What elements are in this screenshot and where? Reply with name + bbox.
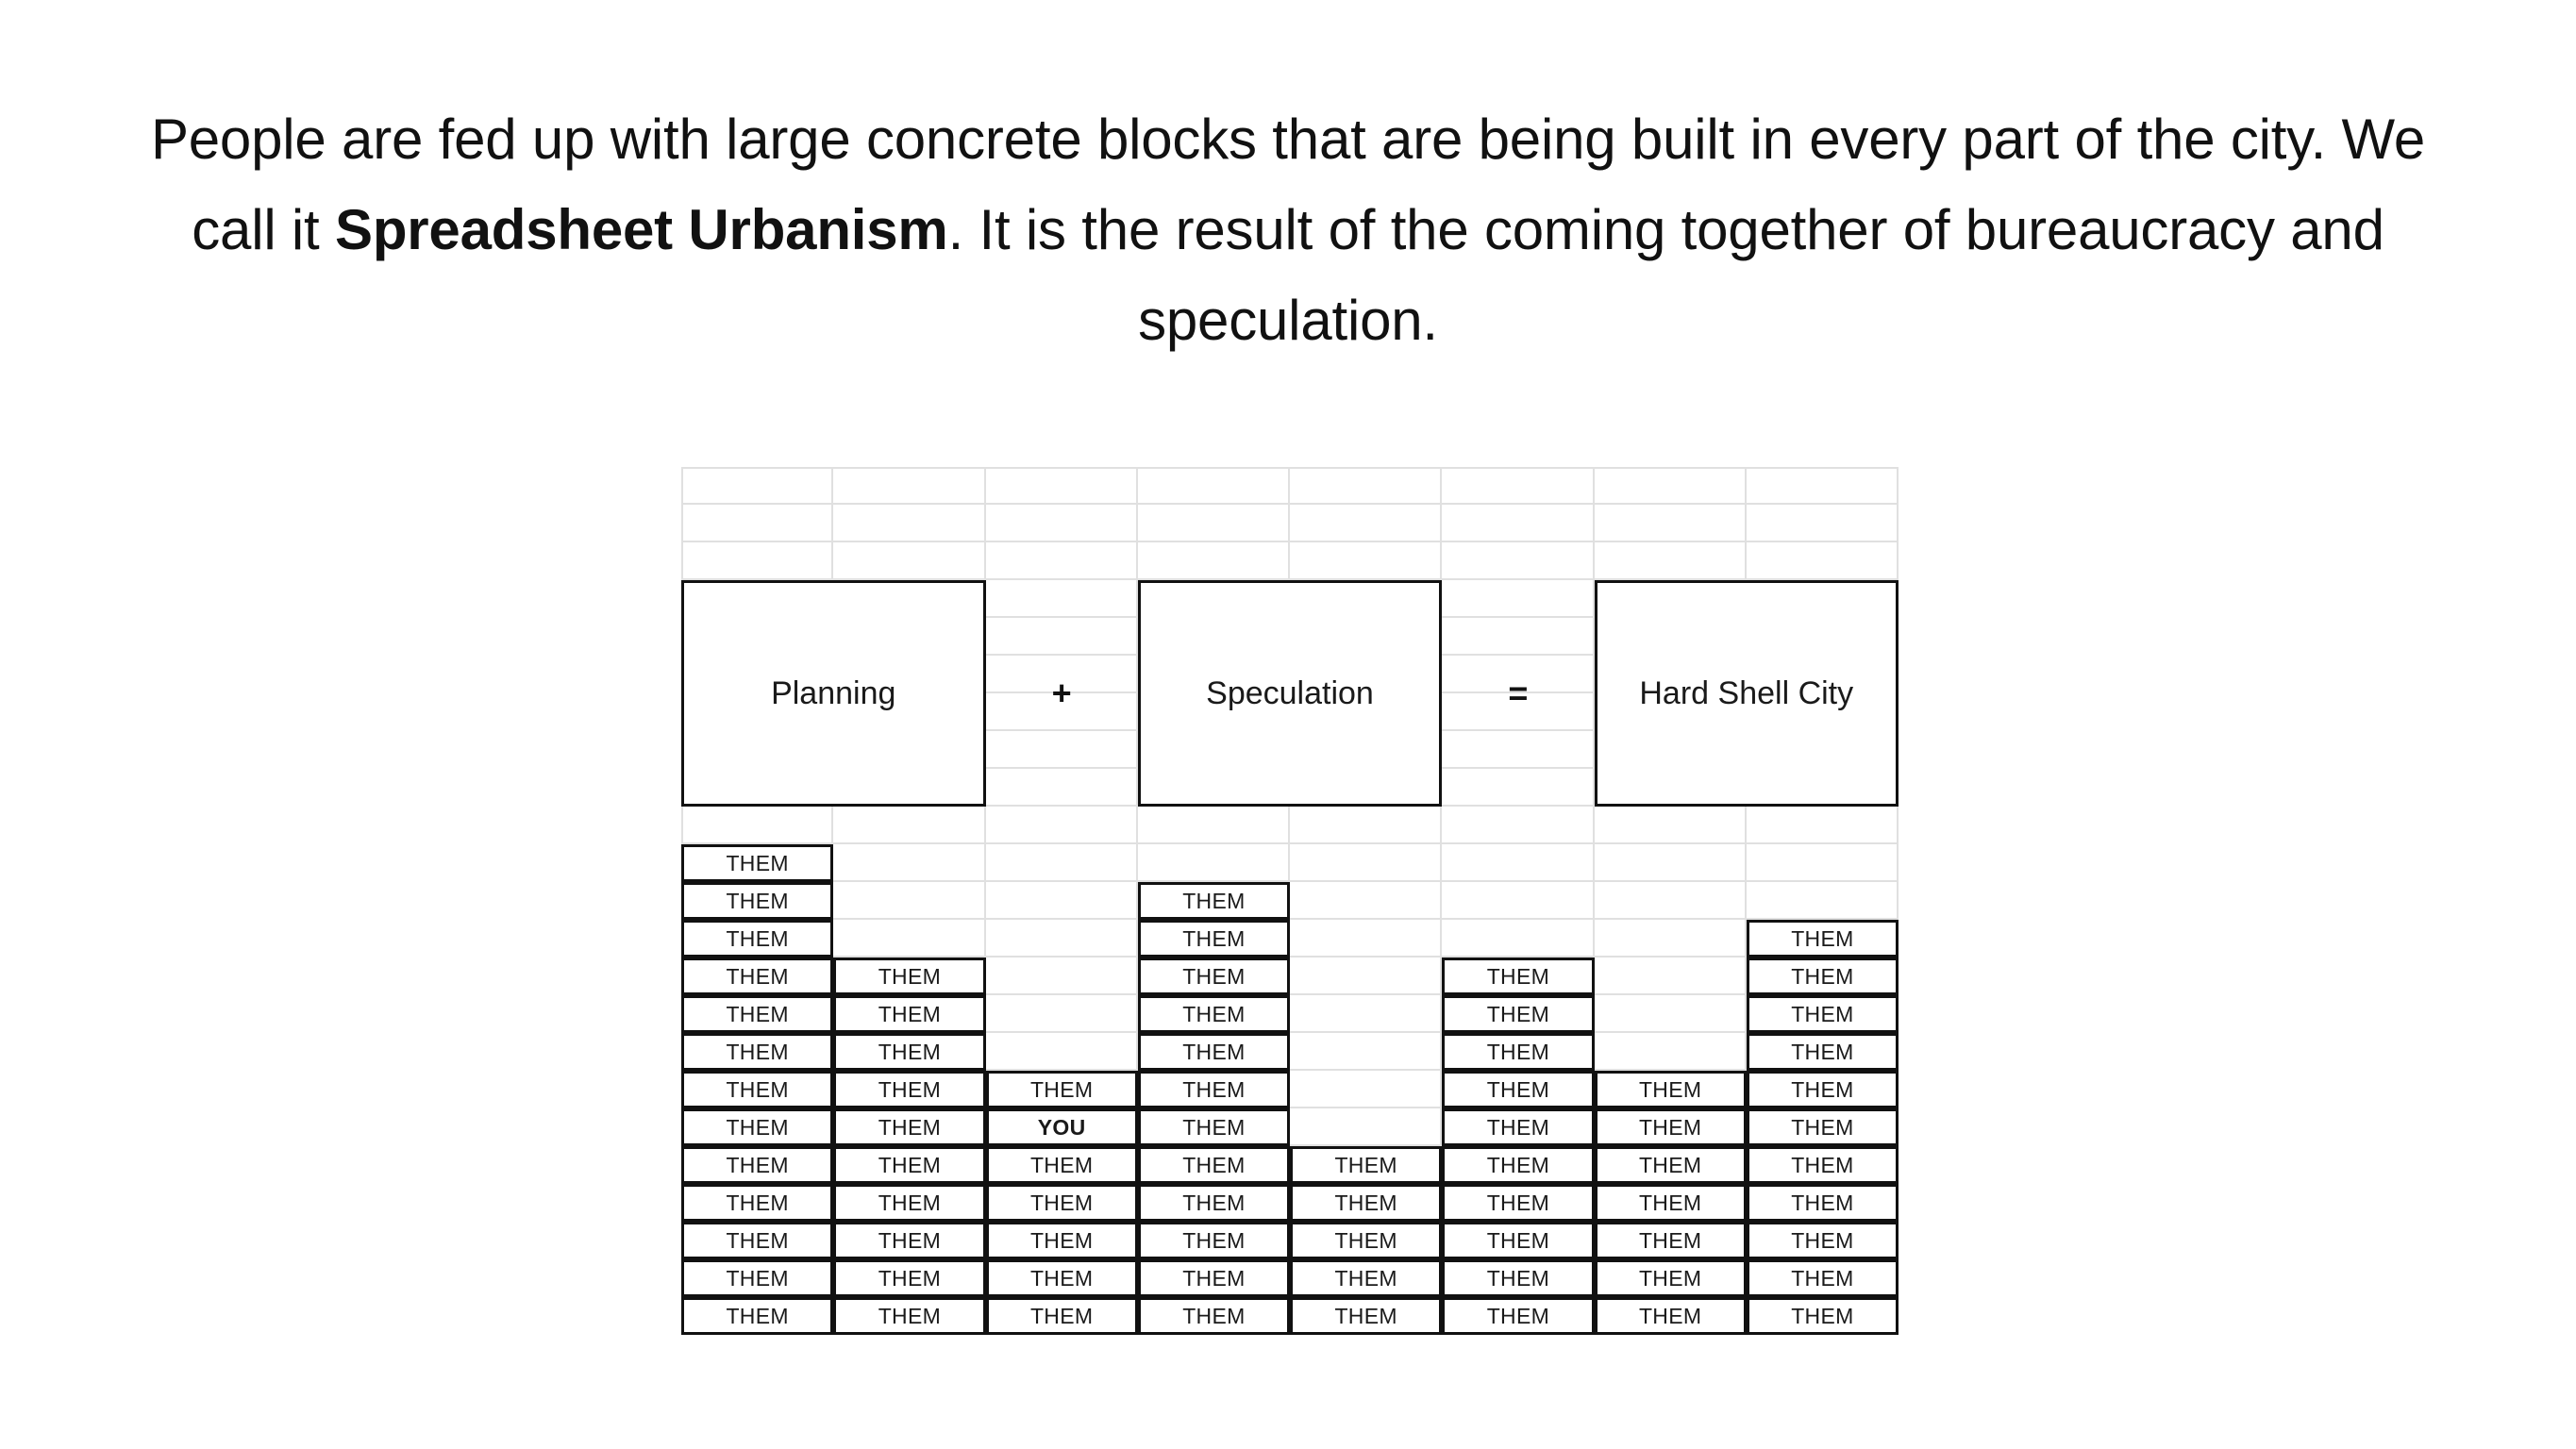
them-cell: THEM — [1138, 1184, 1290, 1222]
them-cell: THEM — [833, 1259, 985, 1297]
them-cell: THEM — [1595, 1259, 1747, 1297]
them-cell: THEM — [1290, 1184, 1442, 1222]
them-cell: THEM — [1747, 1108, 1899, 1146]
them-cell: THEM — [1138, 1146, 1290, 1184]
them-cell: THEM — [1595, 1184, 1747, 1222]
them-cell: THEM — [833, 995, 985, 1033]
them-cell: THEM — [681, 1184, 833, 1222]
them-cell: THEM — [833, 1146, 985, 1184]
them-cell: THEM — [1595, 1071, 1747, 1108]
them-cell: THEM — [1442, 1259, 1594, 1297]
them-cell: THEM — [681, 958, 833, 995]
them-cell: THEM — [1595, 1297, 1747, 1335]
them-cell: THEM — [1442, 1108, 1594, 1146]
them-cell: THEM — [986, 1222, 1138, 1259]
you-cell: YOU — [986, 1108, 1138, 1146]
equals-operator: = — [1442, 580, 1594, 807]
them-cell: THEM — [681, 882, 833, 920]
them-cell: THEM — [1747, 995, 1899, 1033]
page-title: People are fed up with large concrete bl… — [142, 94, 2434, 366]
them-cell: THEM — [1442, 1297, 1594, 1335]
concept-box-planning: Planning — [681, 580, 986, 807]
them-cell: THEM — [1138, 958, 1290, 995]
them-cell: THEM — [986, 1071, 1138, 1108]
them-cell: THEM — [1747, 1184, 1899, 1222]
them-cell: THEM — [681, 995, 833, 1033]
them-cell: THEM — [1595, 1108, 1747, 1146]
them-cell: THEM — [681, 1146, 833, 1184]
them-cell: THEM — [1747, 1146, 1899, 1184]
plus-operator: + — [986, 580, 1138, 807]
them-cell: THEM — [1442, 1146, 1594, 1184]
them-cell: THEM — [1747, 1033, 1899, 1071]
them-cell: THEM — [833, 958, 985, 995]
them-cell: THEM — [1747, 1071, 1899, 1108]
them-cell: THEM — [833, 1184, 985, 1222]
them-cell: THEM — [833, 1033, 985, 1071]
spreadsheet-content: Planning+Speculation=Hard Shell CityTHEM… — [681, 467, 1899, 1335]
them-cell: THEM — [1138, 1033, 1290, 1071]
them-cell: THEM — [1442, 995, 1594, 1033]
them-cell: THEM — [1290, 1146, 1442, 1184]
spreadsheet-diagram: Planning+Speculation=Hard Shell CityTHEM… — [681, 467, 1899, 1335]
them-cell: THEM — [1442, 1033, 1594, 1071]
them-cell: THEM — [1442, 958, 1594, 995]
them-cell: THEM — [1442, 1222, 1594, 1259]
them-cell: THEM — [1138, 1297, 1290, 1335]
them-cell: THEM — [986, 1146, 1138, 1184]
them-cell: THEM — [1442, 1184, 1594, 1222]
them-cell: THEM — [681, 844, 833, 882]
them-cell: THEM — [681, 1033, 833, 1071]
them-cell: THEM — [1747, 1297, 1899, 1335]
them-cell: THEM — [1138, 882, 1290, 920]
them-cell: THEM — [1290, 1259, 1442, 1297]
them-cell: THEM — [681, 1297, 833, 1335]
headline-part-2: . It is the result of the coming togethe… — [948, 198, 2384, 352]
them-cell: THEM — [1747, 920, 1899, 958]
concept-box-hard-shell-city: Hard Shell City — [1595, 580, 1899, 807]
them-cell: THEM — [1595, 1222, 1747, 1259]
them-cell: THEM — [681, 1222, 833, 1259]
them-cell: THEM — [1747, 1259, 1899, 1297]
concept-box-speculation: Speculation — [1138, 580, 1443, 807]
them-cell: THEM — [986, 1184, 1138, 1222]
them-cell: THEM — [1138, 1222, 1290, 1259]
them-cell: THEM — [833, 1108, 985, 1146]
them-cell: THEM — [986, 1259, 1138, 1297]
headline-emphasis: Spreadsheet Urbanism — [335, 198, 948, 261]
them-cell: THEM — [1290, 1297, 1442, 1335]
them-cell: THEM — [1138, 1108, 1290, 1146]
them-cell: THEM — [1747, 958, 1899, 995]
them-cell: THEM — [1138, 1071, 1290, 1108]
them-cell: THEM — [1138, 1259, 1290, 1297]
them-cell: THEM — [833, 1297, 985, 1335]
them-cell: THEM — [1138, 995, 1290, 1033]
them-cell: THEM — [681, 1259, 833, 1297]
them-cell: THEM — [986, 1297, 1138, 1335]
them-cell: THEM — [833, 1222, 985, 1259]
them-cell: THEM — [681, 1071, 833, 1108]
them-cell: THEM — [833, 1071, 985, 1108]
them-cell: THEM — [1595, 1146, 1747, 1184]
them-cell: THEM — [1747, 1222, 1899, 1259]
them-cell: THEM — [681, 920, 833, 958]
them-cell: THEM — [681, 1108, 833, 1146]
them-cell: THEM — [1138, 920, 1290, 958]
them-cell: THEM — [1290, 1222, 1442, 1259]
them-cell: THEM — [1442, 1071, 1594, 1108]
